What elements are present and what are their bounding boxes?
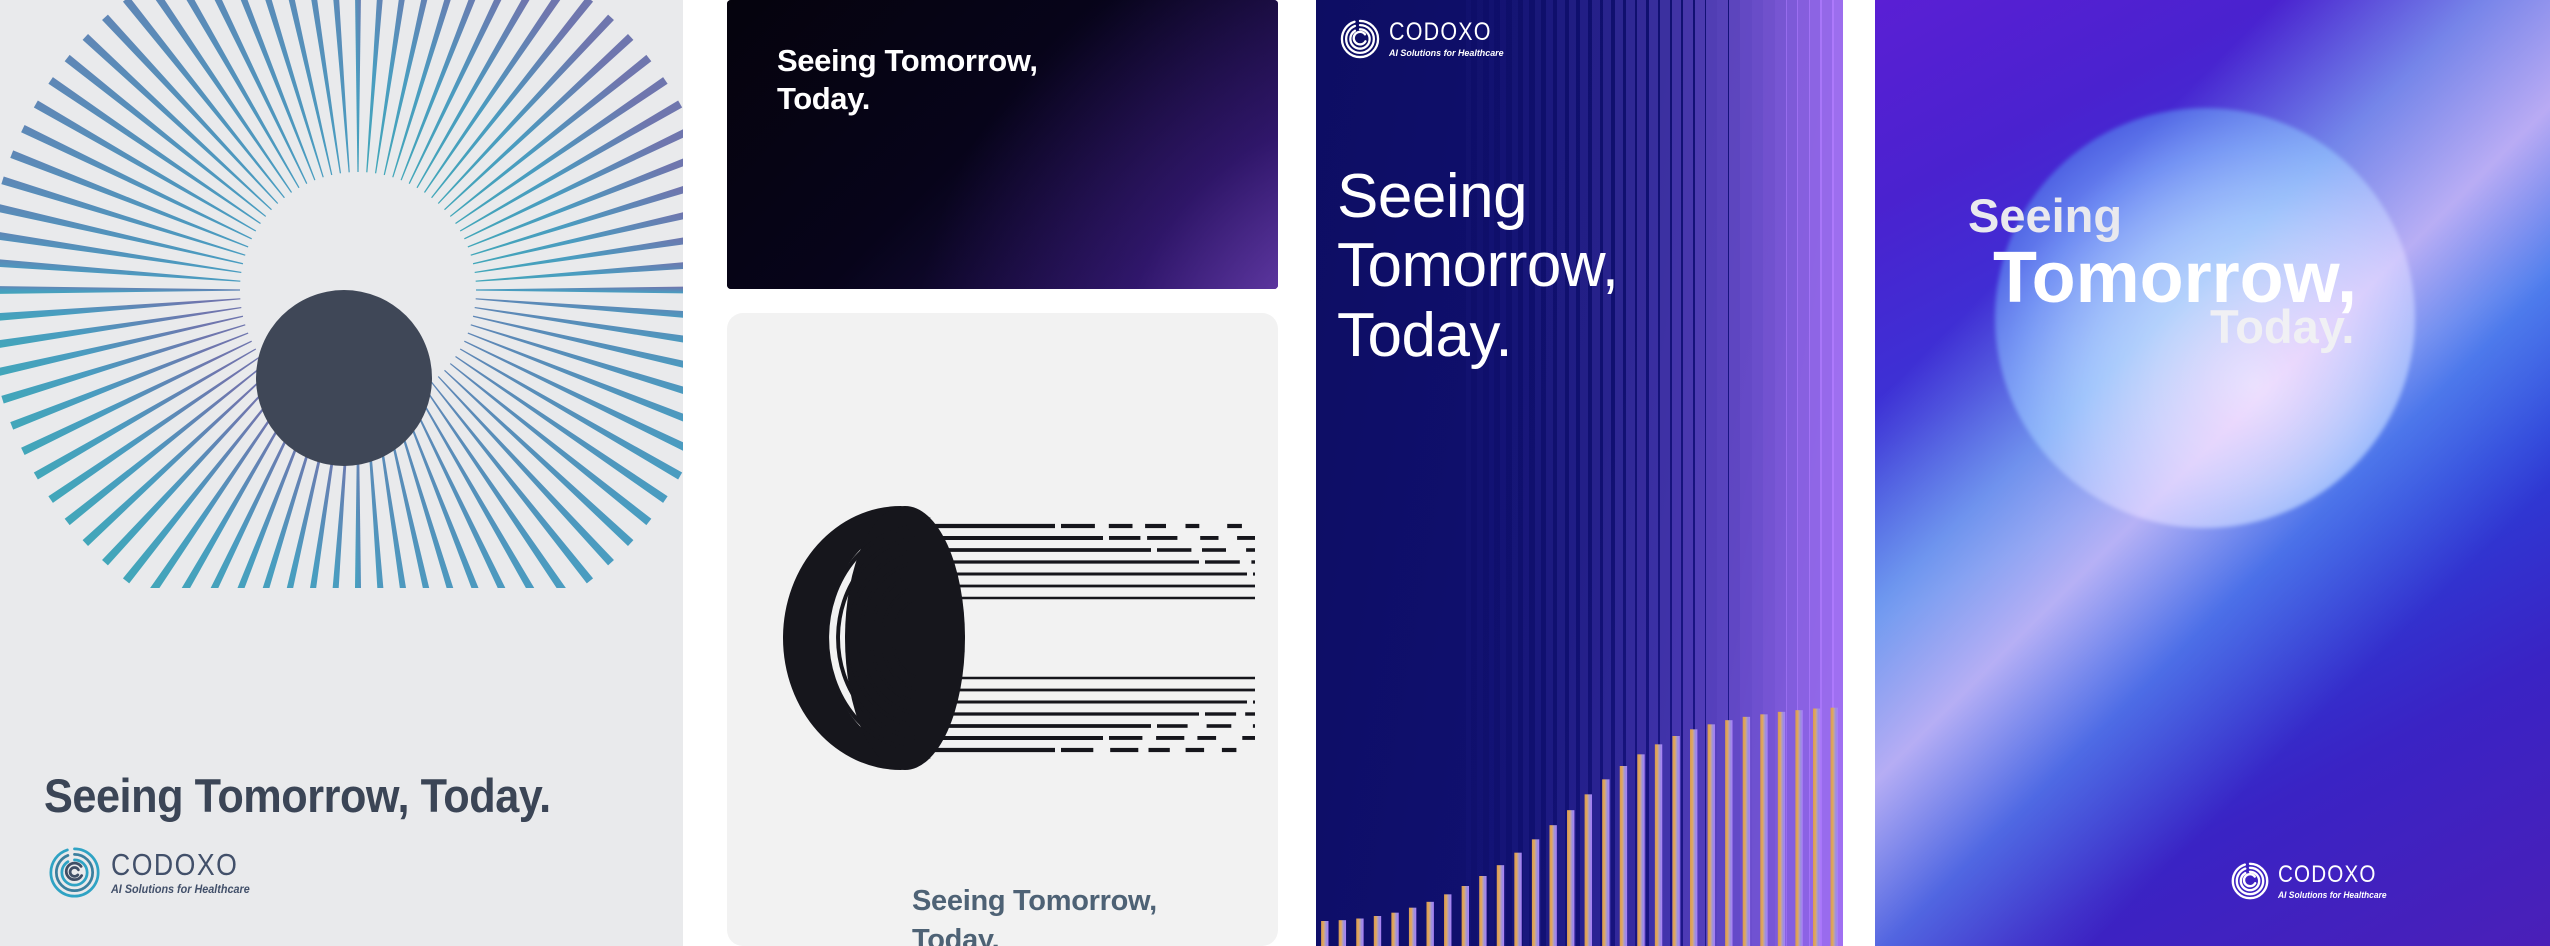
brand-panel-board: Seeing Tomorrow, Today. CODOXO AI Soluti…	[0, 0, 2550, 946]
card-light-title-line1: Seeing Tomorrow,	[912, 882, 1157, 921]
codoxo-fingerprint-icon	[47, 845, 102, 900]
codoxo-wordmark: CODOXO	[111, 849, 238, 880]
card-dark-banner: Seeing Tomorrow, Today.	[727, 0, 1278, 289]
codoxo-subtitle: AI Solutions for Healthcare	[111, 885, 250, 897]
panel-navy-title-line2: Tomorrow,	[1337, 231, 1618, 300]
eye-pupil-shape	[256, 290, 432, 466]
panel-eye-poster: Seeing Tomorrow, Today. CODOXO AI Soluti…	[0, 0, 683, 946]
rising-bar-chart-graphic	[1316, 696, 1843, 946]
codoxo-fingerprint-icon	[1339, 18, 1381, 60]
panel-column-two: Seeing Tomorrow, Today. Seeing Tomorrow,…	[727, 0, 1278, 946]
card-dark-title: Seeing Tomorrow, Today.	[777, 42, 1038, 119]
codoxo-wordmark: CODOXO	[2278, 863, 2377, 887]
card-c-motif: Seeing Tomorrow, Today. CODOXO AI Soluti…	[727, 313, 1278, 946]
card-light-title-line2: Today.	[912, 921, 1157, 946]
panel-gradient-sphere: Seeing Tomorrow, Today. CODOXO AI Soluti…	[1875, 0, 2550, 946]
diagonal-light-band-graphic	[1875, 0, 2550, 946]
card-light-title: Seeing Tomorrow, Today.	[912, 882, 1157, 946]
codoxo-logo-eye: CODOXO AI Solutions for Healthcare	[47, 845, 259, 900]
panel-gradient-title-line1: Seeing	[1968, 192, 2122, 239]
panel-navy-title: Seeing Tomorrow, Today.	[1337, 162, 1618, 370]
codoxo-wordmark: CODOXO	[1389, 20, 1494, 45]
panel-gradient-title-line3: Today.	[2210, 303, 2355, 350]
panel-navy-title-line3: Today.	[1337, 301, 1618, 370]
codoxo-subtitle: AI Solutions for Healthcare	[2278, 891, 2387, 900]
codoxo-fingerprint-icon	[2230, 861, 2270, 901]
card-dark-title-line1: Seeing Tomorrow,	[777, 42, 1038, 80]
card-dark-title-line2: Today.	[777, 80, 1038, 118]
codoxo-logo-gradient: CODOXO AI Solutions for Healthcare	[2230, 861, 2394, 901]
codoxo-logo-navy: CODOXO AI Solutions for Healthcare	[1339, 18, 1511, 60]
panel-navy-stripes: CODOXO AI Solutions for Healthcare Seein…	[1316, 0, 1843, 946]
codoxo-subtitle: AI Solutions for Healthcare	[1389, 49, 1504, 59]
c-arc-data-streak-graphic	[755, 428, 1255, 848]
panel-navy-title-line1: Seeing	[1337, 162, 1618, 231]
panel-eye-tagline: Seeing Tomorrow, Today.	[44, 768, 551, 823]
